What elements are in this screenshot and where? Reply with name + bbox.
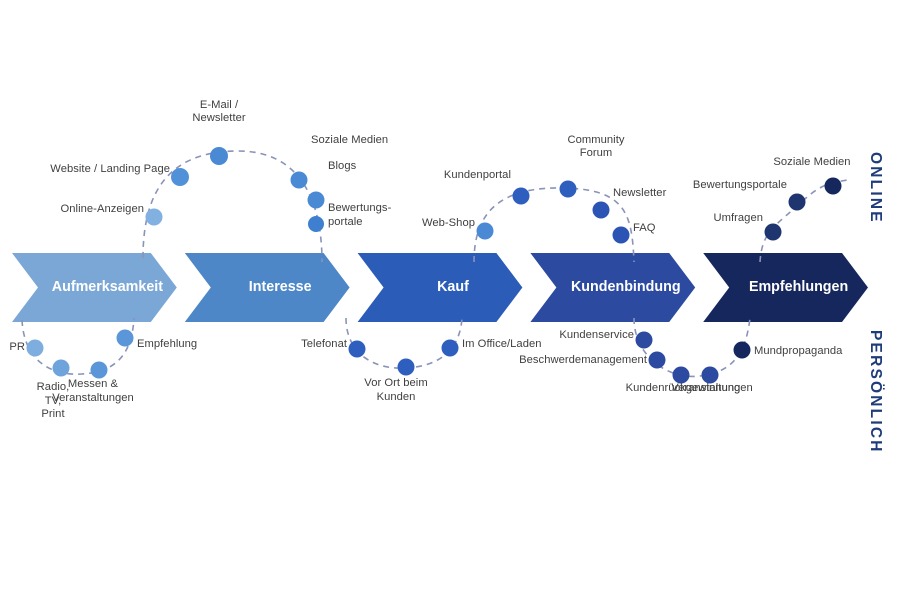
touchpoint-dot[interactable] — [702, 367, 719, 384]
touchpoint-label: Veranstaltungen — [642, 382, 782, 396]
touchpoint-label: Vor Ort beim Kunden — [326, 377, 466, 404]
touchpoint-dot[interactable] — [789, 194, 806, 211]
touchpoint-dot[interactable] — [349, 341, 366, 358]
touchpoint-label: PR — [9, 341, 25, 355]
touchpoint-dot[interactable] — [734, 342, 751, 359]
touchpoint-label: Bewertungs- portale — [328, 202, 391, 229]
touchpoint-label: E-Mail / Newsletter — [149, 99, 289, 126]
touchpoint-dot[interactable] — [210, 147, 228, 165]
touchpoint-dot[interactable] — [593, 202, 610, 219]
stage-label-2: Interesse — [211, 279, 350, 295]
touchpoint-dot[interactable] — [291, 172, 308, 189]
touchpoint-dot[interactable] — [513, 188, 530, 205]
touchpoint-label: FAQ — [633, 222, 656, 236]
touchpoint-dot[interactable] — [146, 209, 163, 226]
touchpoint-dot[interactable] — [27, 340, 44, 357]
stage-label-1: Aufmerksamkeit — [38, 279, 177, 295]
touchpoint-label: Empfehlung — [137, 338, 197, 352]
touchpoint-dot[interactable] — [673, 367, 690, 384]
journey-connector — [474, 188, 634, 262]
touchpoint-dot[interactable] — [560, 181, 577, 198]
touchpoint-label: Web-Shop — [422, 217, 475, 231]
touchpoint-dot[interactable] — [613, 227, 630, 244]
touchpoint-label: Kundenportal — [444, 169, 511, 183]
touchpoint-label: Newsletter — [613, 187, 666, 201]
journey-shapes — [0, 0, 900, 600]
touchpoint-label: Im Office/Laden — [462, 338, 542, 352]
axis-label-personal: PERSÖNLICH — [866, 330, 884, 454]
touchpoint-dot[interactable] — [636, 332, 653, 349]
touchpoint-dot[interactable] — [117, 330, 134, 347]
stage-label-5: Empfehlungen — [729, 279, 868, 295]
stage-label-4: Kundenbindung — [556, 279, 695, 295]
touchpoint-dot[interactable] — [765, 224, 782, 241]
touchpoint-dot[interactable] — [825, 178, 842, 195]
touchpoint-dot[interactable] — [308, 216, 324, 232]
touchpoint-dot[interactable] — [477, 223, 494, 240]
touchpoint-label: Mundpropaganda — [754, 345, 842, 359]
touchpoint-label: Soziale Medien — [742, 156, 882, 170]
touchpoint-dot[interactable] — [171, 168, 189, 186]
touchpoint-label: Community Forum — [526, 134, 666, 161]
touchpoint-label: Umfragen — [713, 212, 763, 226]
customer-journey-diagram: AufmerksamkeitInteresseKaufKundenbindung… — [0, 0, 900, 600]
touchpoint-label: Soziale Medien — [311, 134, 388, 148]
touchpoint-dot[interactable] — [91, 362, 108, 379]
axis-label-online: ONLINE — [866, 152, 884, 224]
touchpoint-label: Online-Anzeigen — [61, 203, 144, 217]
touchpoint-label: Beschwerdemanagement — [519, 354, 647, 368]
touchpoint-dot[interactable] — [308, 192, 325, 209]
touchpoint-dot[interactable] — [649, 352, 666, 369]
touchpoint-label: Telefonat — [301, 338, 347, 352]
journey-connector — [634, 318, 750, 376]
touchpoint-label: Blogs — [328, 160, 356, 174]
stage-label-3: Kauf — [384, 279, 523, 295]
touchpoint-dot[interactable] — [53, 360, 70, 377]
touchpoint-label: Kundenservice — [559, 329, 634, 343]
touchpoint-label: Messen & Veranstaltungen — [23, 378, 163, 405]
touchpoint-label: Website / Landing Page — [50, 163, 170, 177]
touchpoint-label: Bewertungsportale — [693, 179, 787, 193]
touchpoint-dot[interactable] — [442, 340, 459, 357]
touchpoint-dot[interactable] — [398, 359, 415, 376]
